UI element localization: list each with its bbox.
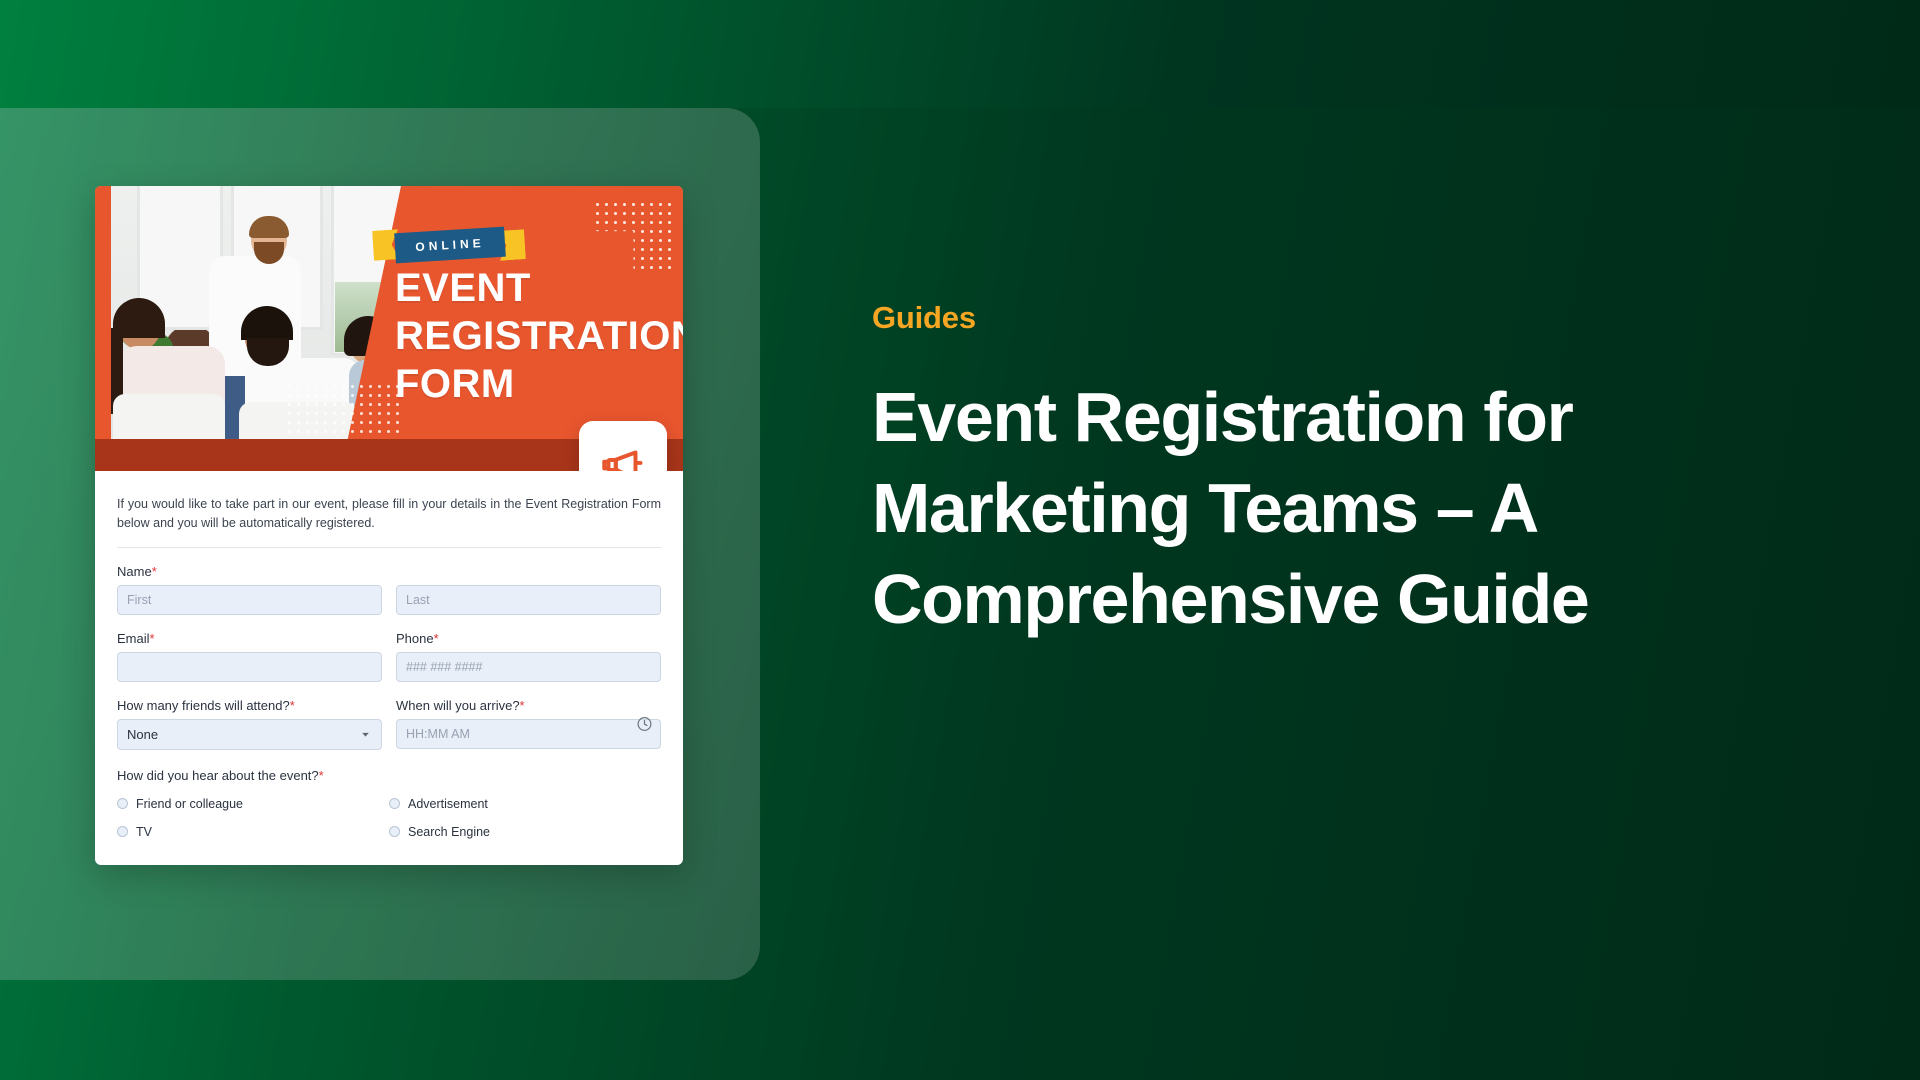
hear-about-label-text: How did you hear about the event? [117, 768, 319, 783]
friends-label-text: How many friends will attend? [117, 698, 290, 713]
radio-option-friend-or-colleague[interactable]: Friend or colleague [117, 797, 389, 811]
last-name-input[interactable]: Last [396, 585, 661, 615]
radio-option-label: Friend or colleague [136, 797, 243, 811]
radio-button-icon[interactable] [389, 798, 400, 809]
banner-title-line-3: FORM [395, 364, 515, 404]
friends-arrive-row: How many friends will attend?* None When… [117, 698, 661, 750]
phone-label-text: Phone [396, 631, 434, 646]
name-field-row: Name* First Last [117, 564, 661, 615]
friends-select-value: None [127, 727, 158, 742]
friends-label: How many friends will attend?* [117, 698, 382, 713]
radio-option-search-engine[interactable]: Search Engine [389, 825, 661, 839]
form-intro-text: If you would like to take part in our ev… [117, 495, 661, 548]
arrive-time-input[interactable]: HH:MM AM [396, 719, 661, 749]
event-registration-form-card: ONLINE EVENT REGISTRATION FORM If you wo… [95, 186, 683, 865]
radio-option-label: Search Engine [408, 825, 490, 839]
name-field-group: Name* First Last [117, 564, 661, 615]
email-input[interactable] [117, 652, 382, 682]
person-head [119, 304, 161, 350]
background-top-band [0, 0, 1920, 108]
required-marker: * [152, 564, 157, 579]
person-head [245, 314, 289, 362]
phone-input[interactable]: ### ### #### [396, 652, 661, 682]
hear-about-label: How did you hear about the event?* [117, 768, 661, 783]
name-label-text: Name [117, 564, 152, 579]
person-head [251, 220, 287, 260]
hear-about-radio-row-1: Friend or colleague Advertisement [117, 797, 661, 811]
email-label-text: Email [117, 631, 150, 646]
radio-button-icon[interactable] [389, 826, 400, 837]
required-marker: * [290, 698, 295, 713]
required-marker: * [434, 631, 439, 646]
radio-option-label: TV [136, 825, 152, 839]
page-title: Event Registration for Marketing Teams –… [872, 372, 1812, 645]
required-marker: * [520, 698, 525, 713]
radio-button-icon[interactable] [117, 826, 128, 837]
first-name-input[interactable]: First [117, 585, 382, 615]
chevron-down-icon [359, 728, 372, 741]
banner-title-line-2: REGISTRATION [395, 316, 683, 356]
phone-label: Phone* [396, 631, 661, 646]
arrive-field-group: When will you arrive?* HH:MM AM [396, 698, 661, 750]
radio-button-icon[interactable] [117, 798, 128, 809]
email-label: Email* [117, 631, 382, 646]
email-phone-row: Email* Phone* ### ### #### [117, 631, 661, 682]
category-eyebrow: Guides [872, 300, 1832, 336]
online-ribbon-label: ONLINE [415, 236, 485, 254]
arrive-label: When will you arrive?* [396, 698, 661, 713]
dot-pattern-decoration [285, 382, 405, 438]
friends-field-group: How many friends will attend?* None [117, 698, 382, 750]
megaphone-badge [579, 421, 667, 471]
article-header: Guides Event Registration for Marketing … [872, 300, 1832, 645]
form-banner: ONLINE EVENT REGISTRATION FORM [95, 186, 683, 471]
hear-about-radio-row-2: TV Search Engine [117, 825, 661, 839]
form-body: If you would like to take part in our ev… [95, 471, 683, 865]
radio-option-advertisement[interactable]: Advertisement [389, 797, 661, 811]
person-hair [249, 216, 289, 238]
email-field-group: Email* [117, 631, 382, 682]
clock-icon[interactable] [636, 715, 653, 732]
required-marker: * [319, 768, 324, 783]
phone-field-group: Phone* ### ### #### [396, 631, 661, 682]
friends-select[interactable]: None [117, 719, 382, 750]
arrive-label-text: When will you arrive? [396, 698, 520, 713]
banner-title-line-1: EVENT [395, 268, 531, 308]
required-marker: * [150, 631, 155, 646]
radio-option-tv[interactable]: TV [117, 825, 389, 839]
megaphone-icon [598, 440, 648, 471]
radio-option-label: Advertisement [408, 797, 488, 811]
banner-left-stripe [95, 186, 111, 471]
name-label: Name* [117, 564, 661, 579]
